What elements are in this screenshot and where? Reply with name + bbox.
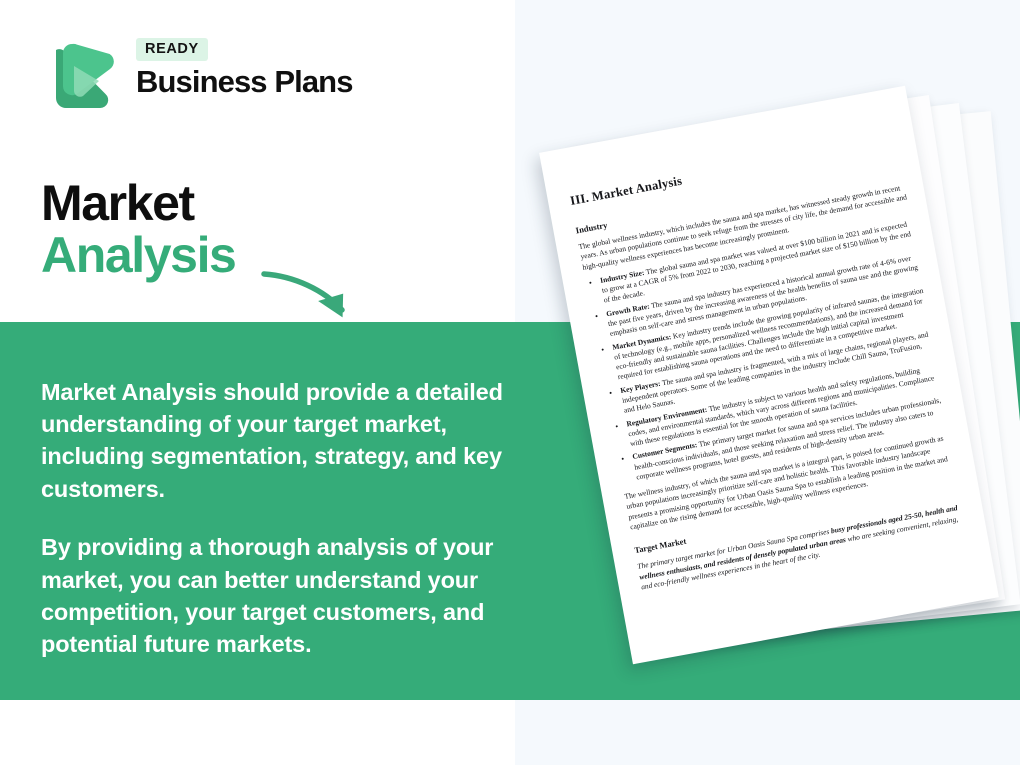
- document-page-content: III. Market Analysis Industry The global…: [565, 111, 969, 593]
- brand-name: Business Plans: [136, 65, 353, 100]
- curved-arrow-down-right-icon: [258, 262, 366, 326]
- page-title-line-1: Market: [41, 178, 471, 230]
- body-paragraph-1: Market Analysis should provide a detaile…: [41, 376, 553, 506]
- brand-logo[interactable]: READY Business Plans: [42, 34, 362, 118]
- page-title: Market Analysis: [41, 178, 471, 281]
- page-title-line-2: Analysis: [41, 230, 471, 282]
- body-paragraph-2: By providing a thorough analysis of your…: [41, 531, 553, 661]
- ready-badge: READY: [136, 38, 208, 61]
- play-triangle-logo-icon: [42, 36, 118, 116]
- body-copy: Market Analysis should provide a detaile…: [41, 352, 553, 684]
- slide-canvas: READY Business Plans Market Analysis Mar…: [0, 0, 1020, 765]
- brand-logo-text: READY Business Plans: [136, 38, 353, 99]
- document-stack[interactable]: growthment.21 andsizerate ofs ofunas,ons…: [505, 105, 1020, 665]
